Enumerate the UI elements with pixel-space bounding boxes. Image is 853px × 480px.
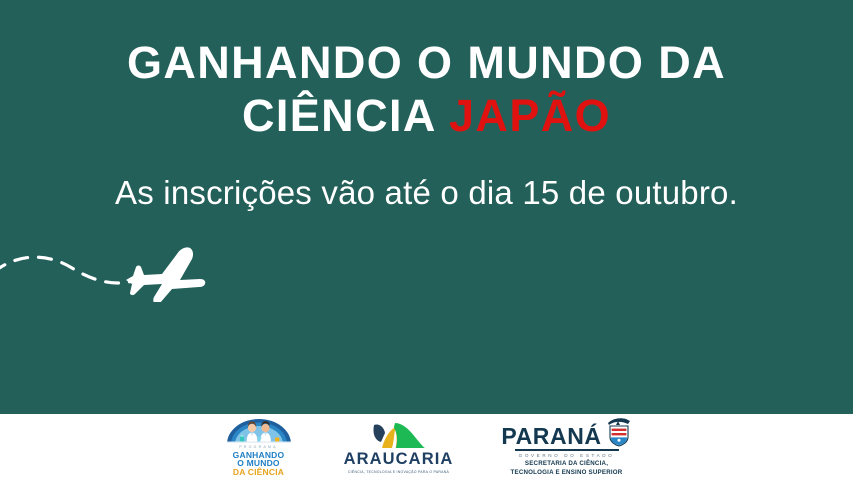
footer-logo-bar: PROGRAMA GANHANDO O MUNDO DA CIÊNCIA ARA… xyxy=(0,414,853,480)
title-destination-japan: JAPÃO xyxy=(449,90,611,141)
logo-parana-secretaria-line-2: TECNOLOGIA E ENSINO SUPERIOR xyxy=(511,469,623,476)
logo-fundacao-araucaria: ARAUCARIA CIÊNCIA, TECNOLOGIA E INOVAÇÃO… xyxy=(347,420,451,474)
title-line-2-prefix: CIÊNCIA xyxy=(242,90,449,141)
dashed-trail-icon xyxy=(0,257,146,283)
logo-parana-top-row: PARANÁ xyxy=(501,417,631,447)
scientists-dome-icon xyxy=(224,418,294,445)
logo-parana-secretaria: SECRETARIA DA CIÊNCIA, TECNOLOGIA E ENSI… xyxy=(511,460,623,477)
logo-araucaria-wordmark: ARAUCARIA xyxy=(344,451,454,468)
logo-parana-wordmark: PARANÁ xyxy=(501,426,601,447)
airplane-icon xyxy=(126,247,205,302)
logo-araucaria-tagline: CIÊNCIA, TECNOLOGIA E INOVAÇÃO PARA O PA… xyxy=(348,470,449,474)
airplane-decoration xyxy=(0,240,214,302)
page-title: GANHANDO O MUNDO DA CIÊNCIA JAPÃO xyxy=(0,36,853,142)
logo-parana-rule xyxy=(515,449,619,451)
logo-parana-secretaria-line-1: SECRETARIA DA CIÊNCIA, xyxy=(525,460,608,467)
logo-governo-do-parana: PARANÁ GOVERNO DO ESTADO SECRETARIA DA C… xyxy=(503,417,631,477)
promo-banner: GANHANDO O MUNDO DA CIÊNCIA JAPÃO As ins… xyxy=(0,0,853,480)
logo-gmc-wordmark: PROGRAMA GANHANDO O MUNDO DA CIÊNCIA xyxy=(233,446,285,476)
logo-parana-gov-line: GOVERNO DO ESTADO xyxy=(519,453,615,458)
logo-gmc-word-3: DA CIÊNCIA xyxy=(233,468,285,477)
title-line-2: CIÊNCIA JAPÃO xyxy=(0,89,853,142)
subtitle-deadline: As inscrições vão até o dia 15 de outubr… xyxy=(0,173,853,213)
title-line-1: GANHANDO O MUNDO DA xyxy=(0,36,853,89)
araucaria-mountain-icon xyxy=(368,420,430,450)
parana-coat-of-arms-icon xyxy=(606,417,632,447)
logo-gmc-pretitle: PROGRAMA xyxy=(233,446,285,450)
logo-ganhando-o-mundo-da-ciencia: PROGRAMA GANHANDO O MUNDO DA CIÊNCIA xyxy=(223,418,295,476)
